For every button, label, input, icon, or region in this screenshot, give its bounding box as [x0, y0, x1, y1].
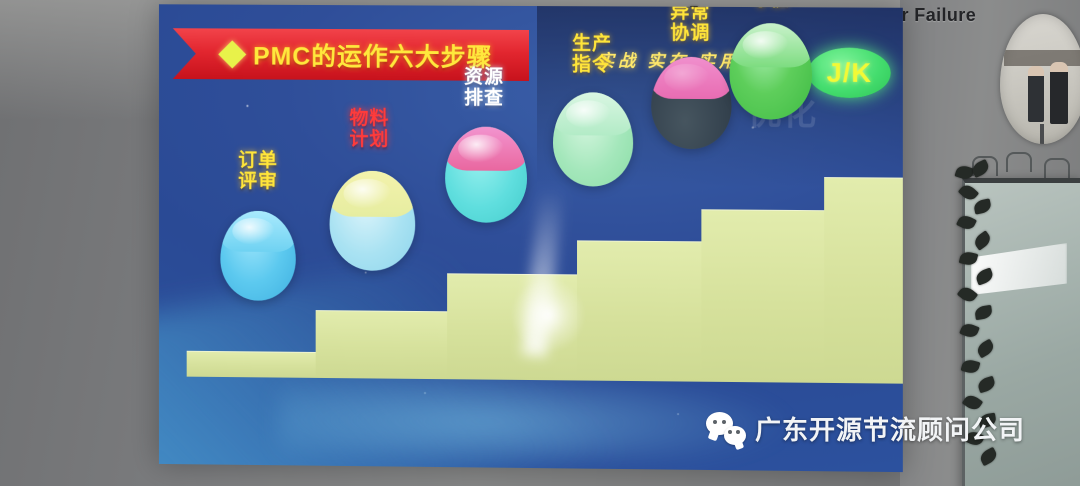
step-orb-1 [220, 211, 295, 301]
leaf-icon [973, 198, 992, 214]
photo-person-right [1050, 62, 1068, 124]
leaf-icon [959, 321, 980, 339]
hanger-icon [1044, 158, 1070, 178]
step-label-3: 资源 排查 [438, 67, 530, 109]
leaf-icon [974, 305, 993, 320]
wechat-icon [706, 412, 746, 445]
orb-highlight [232, 218, 274, 245]
leaf-icon [976, 376, 996, 394]
step-orb-2 [330, 171, 416, 271]
leaf-icon [975, 339, 996, 359]
step-orb-6 [730, 23, 813, 120]
leaf-icon [959, 250, 979, 267]
step-label-4: 生产 指令 [547, 34, 637, 76]
hanger-icon [1006, 152, 1032, 172]
wechat-bubble-small [724, 426, 746, 445]
photo-stand [1040, 124, 1044, 144]
leaf-icon [970, 159, 991, 178]
leaf-icon [974, 267, 994, 285]
orb-highlight [343, 179, 391, 209]
step-orb-3 [445, 126, 527, 223]
jk-logo-text: J/K [827, 57, 872, 88]
stair-step-5 [701, 209, 824, 383]
stair-step-1 [187, 351, 316, 378]
round-wall-photo [1000, 14, 1080, 144]
leaf-icon [956, 213, 977, 232]
leaf-icon [958, 182, 979, 203]
leaf-icon [957, 284, 978, 305]
leaf-icon [972, 230, 993, 251]
photo-banner-strip [1004, 50, 1080, 66]
wechat-watermark: 广东开源节流顾问公司 [706, 410, 1025, 447]
photo-person-left [1028, 66, 1044, 122]
step-label-1: 订单 评审 [214, 151, 301, 192]
orb-highlight [566, 100, 611, 128]
jk-logo: J/K [808, 47, 891, 98]
wechat-dot [728, 430, 732, 434]
wechat-dot [722, 420, 726, 424]
step-orb-5 [651, 57, 731, 150]
step-label-5: 异常 协调 [645, 4, 735, 44]
step-label-2: 物料 计划 [322, 109, 418, 151]
stair-step-3 [447, 273, 577, 380]
wechat-dot [736, 430, 740, 434]
leaf-icon [961, 358, 981, 375]
stair-step-4 [577, 240, 701, 381]
projected-slide: PMC的运作六大步骤 实战 实在 实用 实效 优化 J/K [159, 4, 903, 472]
photo-of-projected-slide: DetermneSuccess Or Failure [0, 0, 1080, 486]
wechat-account-name: 广东开源节流顾问公司 [755, 410, 1025, 447]
stair-step-6 [824, 177, 903, 384]
wechat-dot [713, 420, 717, 424]
orb-highlight [664, 64, 709, 92]
step-orb-4 [553, 92, 633, 187]
leaf-icon [954, 164, 974, 182]
stair-step-2 [316, 310, 447, 379]
diamond-icon [218, 40, 246, 68]
